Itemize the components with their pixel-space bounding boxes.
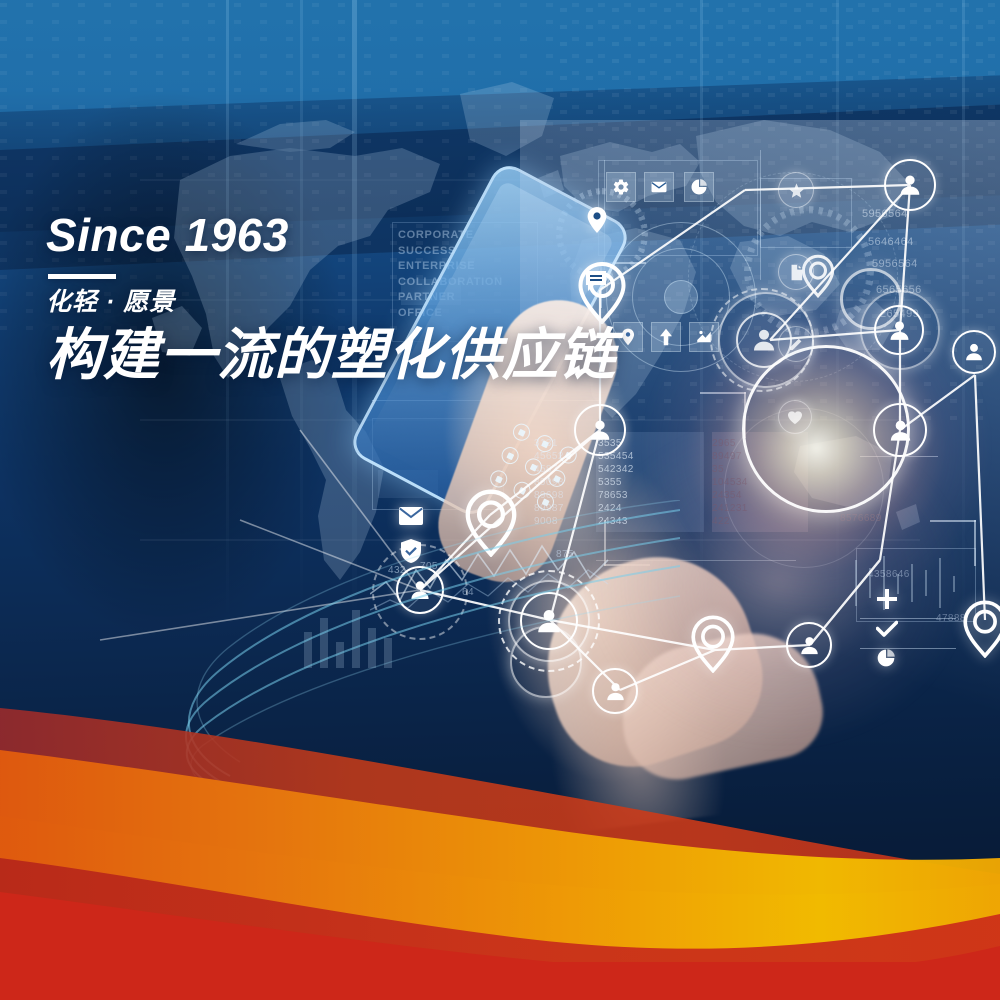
data-value: 35	[712, 463, 748, 476]
data-value: 89098	[534, 476, 564, 489]
up-arrow-chip[interactable]	[651, 322, 681, 352]
pie-chart-chip[interactable]	[684, 172, 714, 202]
lens-circle-large	[742, 345, 910, 513]
text-divider	[48, 274, 116, 279]
vision-label: 化轻 · 愿景	[46, 289, 616, 317]
user-node[interactable]	[884, 159, 936, 211]
mail-chip[interactable]	[644, 172, 674, 202]
share-chip[interactable]	[689, 322, 719, 352]
data-label: 5956564	[862, 208, 908, 221]
up-arrow-icon	[658, 328, 674, 346]
lens-circle-small	[840, 268, 902, 330]
data-value: 241231	[712, 502, 748, 515]
heart-icon	[787, 410, 803, 425]
location-pin-icon	[962, 600, 1000, 658]
user-node[interactable]	[574, 404, 626, 456]
document-icon	[789, 264, 804, 281]
user-icon	[587, 417, 613, 443]
data-value: 4587	[534, 463, 564, 476]
plus-marker[interactable]	[876, 588, 898, 610]
gear-icon	[612, 178, 630, 196]
pie-marker[interactable]	[876, 648, 896, 668]
gear-chip[interactable]	[606, 172, 636, 202]
plus-icon	[876, 588, 898, 610]
map-pin-medium[interactable]	[690, 615, 736, 673]
location-chip[interactable]	[613, 322, 643, 352]
data-value: 3131	[534, 437, 564, 450]
check-marker[interactable]	[876, 620, 898, 638]
document-badge[interactable]	[778, 254, 814, 290]
pie-chart-icon	[690, 178, 708, 196]
data-value: 104534	[712, 476, 748, 489]
location-pin-icon	[620, 328, 636, 346]
data-column-2: 2965 89497 35 104534 24354 241231 422	[712, 437, 748, 528]
data-value: 542342	[598, 463, 634, 476]
heart-badge[interactable]	[778, 400, 812, 434]
share-icon	[695, 328, 713, 346]
banner-text-block: Since 1963 化轻 · 愿景 构建一流的塑化供应链	[46, 212, 616, 385]
data-value: 5355	[598, 476, 634, 489]
user-node[interactable]	[952, 330, 996, 374]
star-badge[interactable]	[778, 172, 814, 208]
data-value: 89497	[712, 450, 748, 463]
user-icon	[963, 341, 985, 363]
user-node[interactable]	[786, 622, 832, 668]
star-icon	[788, 182, 805, 199]
pencil-badge[interactable]	[778, 326, 814, 362]
since-label: Since 1963	[46, 212, 616, 258]
mail-icon	[650, 178, 668, 196]
check-icon	[876, 620, 898, 638]
data-value: 24354	[712, 489, 748, 502]
banner-canvas: CORPORATE SUCCESS ENTERPRISE COLLABORATI…	[0, 0, 1000, 1000]
page-title: 构建一流的塑化供应链	[46, 325, 616, 385]
bottom-wave-graphic	[0, 670, 1000, 1000]
pencil-icon	[788, 336, 804, 352]
location-pin-icon	[690, 615, 736, 673]
data-value: 422	[712, 515, 748, 528]
data-label: 8576689	[840, 512, 882, 525]
data-value: 45652	[534, 450, 564, 463]
spark-candles	[848, 548, 968, 618]
user-icon	[798, 634, 821, 657]
data-label: 5646464	[868, 236, 914, 249]
map-pin-medium[interactable]	[962, 600, 1000, 658]
user-icon	[897, 172, 923, 198]
pie-chart-icon	[876, 648, 896, 668]
